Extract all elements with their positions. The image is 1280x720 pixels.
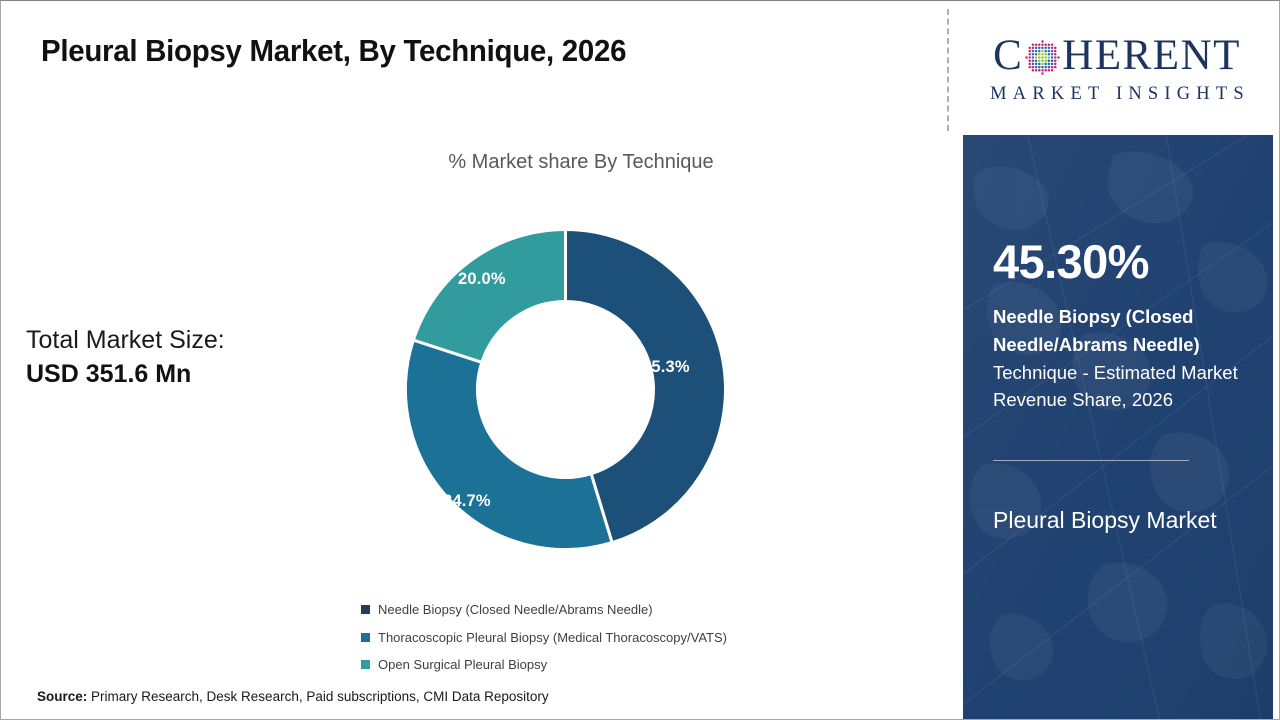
legend-swatch-icon xyxy=(361,660,370,669)
stat-description-detail: Technique - Estimated Market Revenue Sha… xyxy=(993,362,1238,411)
logo-wordmark: C HERENT xyxy=(993,31,1241,79)
panel-market-name: Pleural Biopsy Market xyxy=(993,499,1233,543)
total-market-size-block: Total Market Size: USD 351.6 Mn xyxy=(26,323,326,391)
page-title: Pleural Biopsy Market, By Technique, 202… xyxy=(41,33,626,69)
stat-value: 45.30% xyxy=(993,238,1149,285)
info-panel-content: 45.30% Needle Biopsy (Closed Needle/Abra… xyxy=(993,135,1251,720)
total-market-size-label: Total Market Size: xyxy=(26,323,326,357)
globe-dots-icon xyxy=(1024,39,1061,76)
legend-item-label: Needle Biopsy (Closed Needle/Abrams Need… xyxy=(378,602,653,617)
source-note: Source: Primary Research, Desk Research,… xyxy=(37,689,549,704)
panel-divider xyxy=(993,460,1189,461)
donut-chart: 45.3% 34.7% 20.0% xyxy=(403,227,728,552)
stat-description-highlight: Needle Biopsy (Closed Needle/Abrams Need… xyxy=(993,306,1200,355)
brand-logo[interactable]: C HERENT MARKET INSIGHTS xyxy=(955,1,1279,135)
stat-description: Needle Biopsy (Closed Needle/Abrams Need… xyxy=(993,303,1245,414)
right-column: C HERENT MARKET INSIGHTS xyxy=(949,1,1279,720)
logo-word-herent: HERENT xyxy=(1062,34,1241,77)
donut-slice[interactable] xyxy=(406,340,613,549)
legend-item-needle-biopsy[interactable]: Needle Biopsy (Closed Needle/Abrams Need… xyxy=(361,596,921,624)
market-share-chart: % Market share By Technique 45.3% 34.7% … xyxy=(331,151,801,174)
highlight-info-panel: 45.30% Needle Biopsy (Closed Needle/Abra… xyxy=(963,135,1273,720)
slice-label-open-surgical: 20.0% xyxy=(458,270,506,289)
legend-item-thoracoscopic[interactable]: Thoracoscopic Pleural Biopsy (Medical Th… xyxy=(361,624,921,652)
legend-swatch-icon xyxy=(361,605,370,614)
legend-swatch-icon xyxy=(361,633,370,642)
chart-legend: Needle Biopsy (Closed Needle/Abrams Need… xyxy=(361,596,921,679)
source-label: Source: xyxy=(37,689,87,704)
logo-letter-c: C xyxy=(993,34,1023,77)
chart-subtitle: % Market share By Technique xyxy=(351,151,811,174)
donut-slice[interactable] xyxy=(413,230,565,363)
source-text: Primary Research, Desk Research, Paid su… xyxy=(87,689,548,704)
legend-item-label: Thoracoscopic Pleural Biopsy (Medical Th… xyxy=(378,630,727,645)
logo-subtitle: MARKET INSIGHTS xyxy=(984,84,1250,105)
legend-item-open-surgical[interactable]: Open Surgical Pleural Biopsy xyxy=(361,651,921,679)
total-market-size-value: USD 351.6 Mn xyxy=(26,357,326,391)
slice-label-thoracoscopic: 34.7% xyxy=(443,492,491,511)
legend-item-label: Open Surgical Pleural Biopsy xyxy=(378,657,547,672)
main-content-area: Pleural Biopsy Market, By Technique, 202… xyxy=(1,1,949,720)
slice-label-needle-biopsy: 45.3% xyxy=(642,358,690,377)
infographic-page: Pleural Biopsy Market, By Technique, 202… xyxy=(0,0,1280,720)
